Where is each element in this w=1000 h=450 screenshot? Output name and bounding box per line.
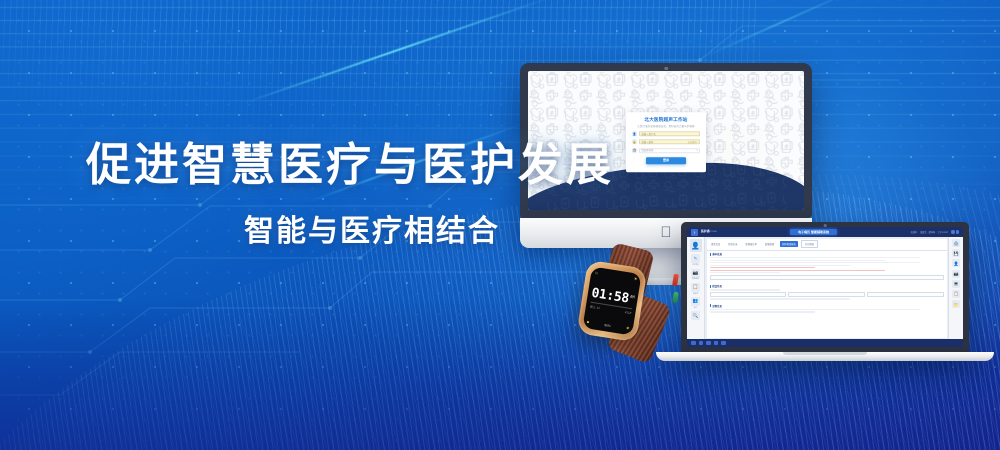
sidebar-label-1: 书写病历 <box>692 264 699 266</box>
user-add-icon[interactable]: 👤 <box>952 259 960 267</box>
emr-main-panel: 患者信息 检查记录 影像报告单 医嘱管理 超声检查报告 打印预览 基本信息 <box>707 239 947 338</box>
emr-sidebar: 👤 ✎ 书写病历 📷 影像调阅 📋 报告单 👥 会诊 🔍 <box>687 237 705 339</box>
department-row: 🏥 请选择科室 ▾ <box>632 148 700 153</box>
app-brand: 医护通 HEALTH SYSTEM <box>701 230 717 235</box>
laptop-screen: ⚕ 医护通 HEALTH SYSTEM 电子病历 智能辅助系统 在线中 张医生 … <box>687 227 963 347</box>
headline-block: 促进智慧医疗与医护发展 智能与医疗相结合 <box>86 140 506 250</box>
section-title-diagnosis: 诊断意见 <box>710 304 944 308</box>
tab-print-preview[interactable]: 打印预览 <box>801 240 817 248</box>
password-input[interactable]: 请输入密码 忘记密码? <box>639 140 700 145</box>
username-row: 👤 请输入用户名 <box>632 131 700 136</box>
input-field[interactable] <box>710 292 787 297</box>
text-line <box>710 272 780 273</box>
save-icon[interactable]: 💾 <box>952 249 960 257</box>
laptop-device: ⚕ 医护通 HEALTH SYSTEM 电子病历 智能辅助系统 在线中 张医生 … <box>681 222 969 361</box>
tab-patient-info[interactable]: 患者信息 <box>709 241 723 247</box>
department-placeholder: 请选择科室 <box>641 148 653 152</box>
text-line <box>710 309 921 310</box>
emr-title-pill: 电子病历 智能辅助系统 <box>790 229 837 236</box>
header-status: 在线中 <box>911 230 918 234</box>
home-icon[interactable] <box>691 341 696 346</box>
text-line <box>710 257 921 258</box>
section-findings: 检查所见 <box>707 283 947 303</box>
page-subtitle: 智能与医疗相结合 <box>86 206 506 250</box>
login-card: 北大医院超声工作站 让医疗服务更便捷更高效，用科技的力量守护健康 👤 请输入用户… <box>626 112 706 172</box>
watch-case: ☼ ✶ 01:58AM 周三 12 4218 ● 85% ✶ <box>577 260 648 342</box>
mail-icon[interactable] <box>714 341 719 346</box>
section-title-basic: 基本信息 <box>710 252 944 256</box>
emr-footer-toolbar <box>687 339 963 347</box>
input-field[interactable] <box>710 275 944 280</box>
clipboard-icon[interactable]: 📋 <box>952 290 960 298</box>
watch-steps: 4218 <box>624 310 631 315</box>
laptop-base <box>656 352 994 361</box>
printer-icon[interactable]: 🖨 <box>952 239 960 247</box>
heart-icon: ● <box>586 319 590 325</box>
header-avatars[interactable] <box>951 230 959 233</box>
laptop-lid: ⚕ 医护通 HEALTH SYSTEM 电子病历 智能辅助系统 在线中 张医生 … <box>681 222 969 352</box>
login-subtitle: 让医疗服务更便捷更高效，用科技的力量守护健康 <box>632 124 700 128</box>
tab-ultrasound-report[interactable]: 超声检查报告 <box>780 241 799 247</box>
text-line <box>710 311 815 312</box>
password-placeholder: 请输入密码 <box>641 140 653 144</box>
tab-orders[interactable]: 医嘱管理 <box>762 241 776 247</box>
section-title-findings: 检查所见 <box>710 284 944 288</box>
emr-tab-bar: 患者信息 检查记录 影像报告单 医嘱管理 超声检查报告 打印预览 <box>707 239 947 251</box>
emr-body: 👤 ✎ 书写病历 📷 影像调阅 📋 报告单 👥 会诊 🔍 患者信息 <box>687 237 963 339</box>
chevron-down-icon: ▾ <box>697 149 698 152</box>
username-placeholder: 请输入用户名 <box>641 132 655 136</box>
input-field[interactable] <box>788 292 865 297</box>
hero-banner: 促进智慧医疗与医护发展 智能与医疗相结合 <box>0 0 1000 450</box>
image-icon[interactable]: 📷 <box>691 269 700 278</box>
text-line <box>710 298 850 299</box>
emr-header: ⚕ 医护通 HEALTH SYSTEM 电子病历 智能辅助系统 在线中 张医生 … <box>687 227 963 237</box>
cyan-accent-line-1 <box>239 0 552 106</box>
text-line <box>710 262 921 263</box>
emr-right-toolbar: 🖨 💾 👤 📷 💻 📋 📁 <box>948 237 963 339</box>
report-icon[interactable]: 📋 <box>691 283 700 292</box>
watch-meridiem: AM <box>630 294 635 300</box>
watch-battery: 85% <box>604 323 611 328</box>
text-line-alert <box>710 270 886 271</box>
watch-time-block: 01:58AM 周三 12 4218 <box>589 287 636 315</box>
search-icon[interactable]: 🔍 <box>691 311 700 320</box>
forgot-password-link[interactable]: 忘记密码? <box>688 140 698 144</box>
user-icon: 👤 <box>632 131 637 136</box>
watch-top-row: ☼ ✶ <box>594 270 638 283</box>
login-submit-button[interactable]: 登录 <box>646 157 686 164</box>
sidebar-label-2: 影像调阅 <box>692 278 699 280</box>
sun-icon: ✶ <box>633 276 638 283</box>
tab-exam-records[interactable]: 检查记录 <box>726 241 740 247</box>
cyan-accent-line-3 <box>697 0 862 61</box>
text-line-alert <box>710 267 815 268</box>
list-icon[interactable] <box>699 341 704 346</box>
watch-date: 周三 12 <box>590 304 601 310</box>
app-logo-icon: ⚕ <box>691 229 698 236</box>
chart-icon[interactable] <box>706 341 711 346</box>
department-select[interactable]: 请选择科室 ▾ <box>639 148 700 153</box>
camera-icon[interactable]: 📷 <box>952 270 960 278</box>
text-line <box>710 265 850 266</box>
brand-subtitle: HEALTH SYSTEM <box>701 232 717 234</box>
section-basic-info: 基本信息 <box>707 251 947 283</box>
sidebar-label-3: 报告单 <box>693 293 698 295</box>
password-row: 🔒 请输入密码 忘记密码? <box>632 140 700 145</box>
login-title: 北大医院超声工作站 <box>632 117 700 123</box>
section-diagnosis: 诊断意见 <box>707 302 947 315</box>
lock-icon: 🔒 <box>632 140 637 145</box>
edit-icon[interactable]: ✎ <box>691 254 700 263</box>
emr-header-right: 在线中 张医生 · 超声科 · 工号 10237 <box>911 230 959 234</box>
gear-icon: ✶ <box>625 326 630 333</box>
field-row <box>710 275 944 280</box>
text-line <box>710 289 780 290</box>
user-icon[interactable] <box>721 341 726 346</box>
laptop-base-notch <box>783 352 867 355</box>
username-input[interactable]: 请输入用户名 <box>639 131 700 136</box>
watch-time: 01:58AM <box>590 287 635 307</box>
text-line <box>710 260 886 261</box>
input-field[interactable] <box>867 292 944 297</box>
smartwatch-device: ☼ ✶ 01:58AM 周三 12 4218 ● 85% ✶ <box>572 252 676 360</box>
apple-logo-icon:  <box>660 225 671 240</box>
page-title: 促进智慧医疗与医护发展 <box>86 140 506 190</box>
hospital-icon: 🏥 <box>632 148 637 153</box>
sidebar-label-4: 会诊 <box>694 307 697 309</box>
bell-icon: ☼ <box>594 270 599 277</box>
tab-imaging-report[interactable]: 影像报告单 <box>743 241 760 247</box>
user-group-icon[interactable]: 👥 <box>691 297 700 306</box>
field-row <box>710 292 944 297</box>
watch-bottom-row: ● 85% ✶ <box>586 319 630 332</box>
header-user: 张医生 · 超声科 · 工号 10237 <box>920 230 948 234</box>
folder-icon[interactable]: 📁 <box>952 300 960 308</box>
patient-avatar-icon: 👤 <box>690 239 702 252</box>
watch-face[interactable]: ☼ ✶ 01:58AM 周三 12 4218 ● 85% ✶ <box>582 266 641 335</box>
webcam-icon <box>664 67 668 71</box>
monitor-icon[interactable]: 💻 <box>952 280 960 288</box>
